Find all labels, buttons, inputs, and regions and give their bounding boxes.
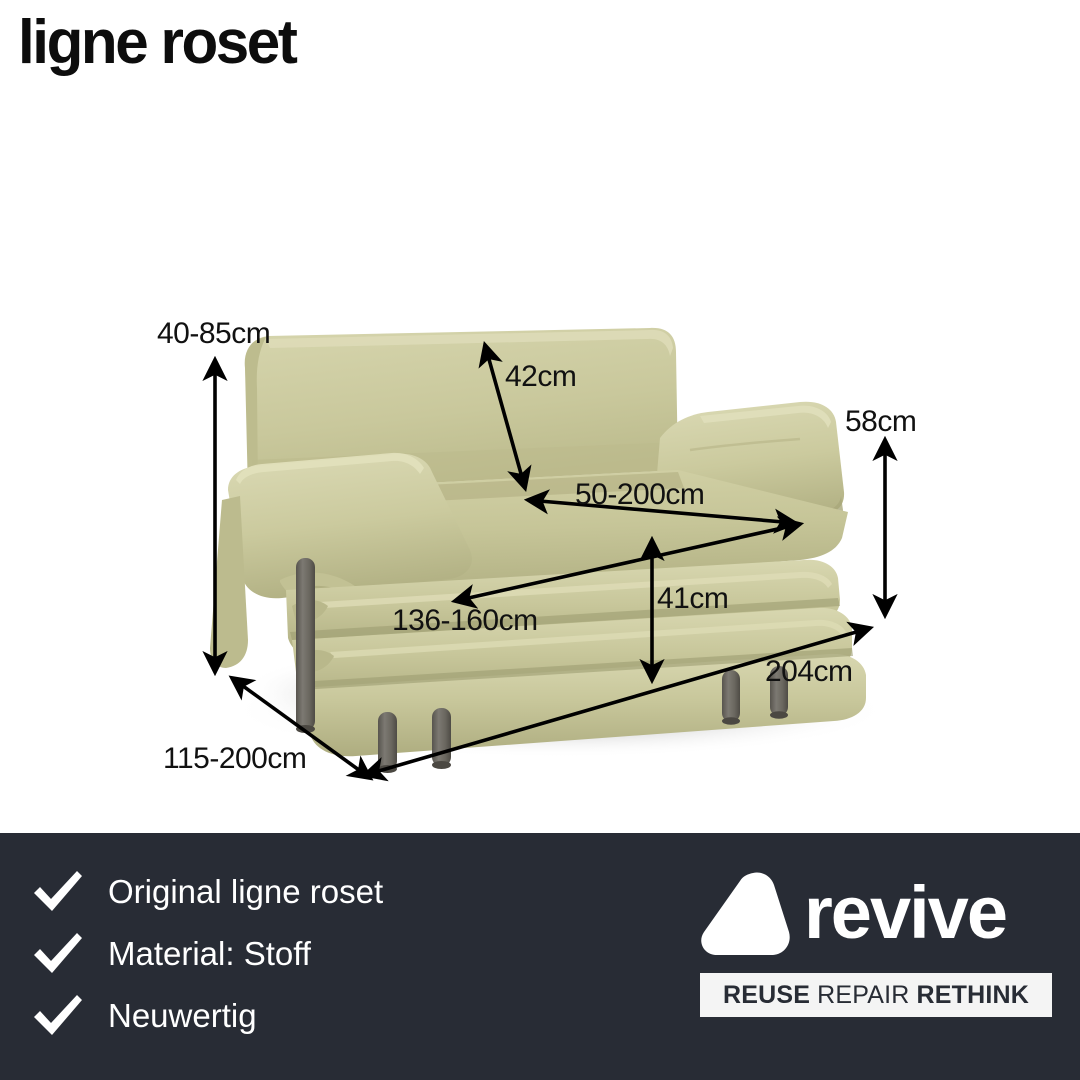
revive-tagline-bar: REUSE REPAIR RETHINK (700, 973, 1052, 1017)
dimension-label-arm-height: 58cm (845, 405, 916, 439)
feature-label: Material: Stoff (108, 935, 311, 973)
checkmark-icon (30, 867, 86, 917)
dimension-arrow-overlay (0, 120, 1080, 833)
tagline-reuse: REUSE (723, 981, 810, 1010)
dimension-label-total-depth: 115-200cm (163, 742, 306, 776)
dimension-label-back: 42cm (505, 360, 576, 394)
revive-wordmark: revive (804, 876, 1006, 950)
ligne-roset-logo: ligne roset (18, 12, 295, 74)
dimension-label-seat-width: 136-160cm (392, 604, 538, 638)
tagline-repair: REPAIR (817, 981, 909, 1010)
revive-logo-block: revive REUSE REPAIR RETHINK (700, 865, 1052, 1017)
arrow-seatwidth (455, 524, 800, 601)
feature-item: Material: Stoff (30, 923, 570, 985)
feature-item: Neuwertig (30, 985, 570, 1047)
dimension-label-seat-height: 41cm (657, 582, 728, 616)
product-photo-stage: 40-85cm 42cm 50-200cm 58cm 136-160cm 41c… (0, 120, 1080, 833)
dimension-label-seat-depth: 50-200cm (575, 478, 704, 512)
feature-item: Original ligne roset (30, 861, 570, 923)
checkmark-icon (30, 929, 86, 979)
checkmark-icon (30, 991, 86, 1041)
feature-label: Original ligne roset (108, 873, 383, 911)
feature-label: Neuwertig (108, 997, 257, 1035)
revive-wordmark-row: revive (700, 865, 1052, 961)
dimension-label-height: 40-85cm (157, 317, 270, 351)
feature-list: Original ligne roset Material: Stoff Neu… (30, 861, 570, 1047)
tagline-rethink: RETHINK (917, 981, 1030, 1010)
dimension-label-total-width: 204cm (765, 655, 853, 689)
arrow-totalwidth (365, 628, 870, 775)
revive-leaf-icon (700, 870, 792, 956)
footer-bar: Original ligne roset Material: Stoff Neu… (0, 833, 1080, 1080)
product-image-card: ligne roset (0, 0, 1080, 1080)
